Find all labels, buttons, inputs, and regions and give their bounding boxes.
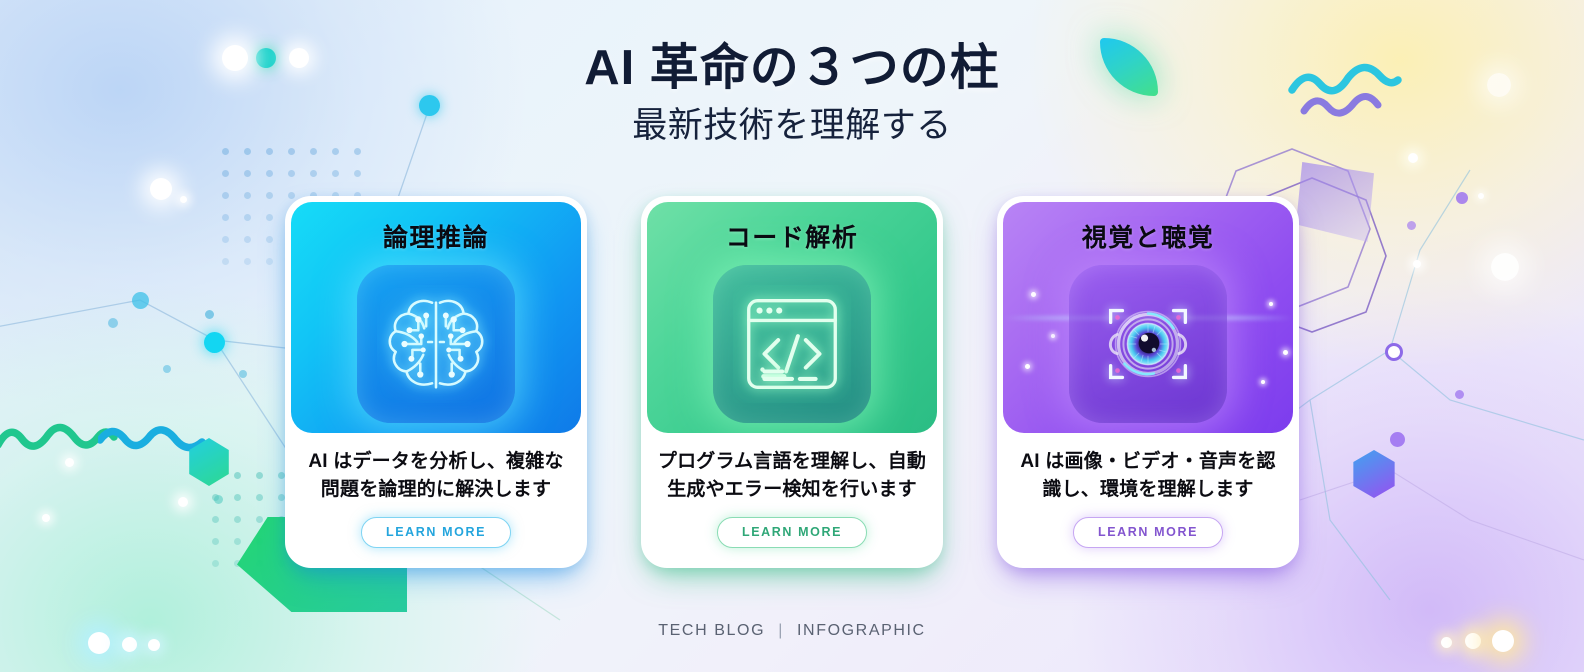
card-description: プログラム言語を理解し、自動 生成やエラー検知を行います [658, 448, 926, 503]
learn-more-button[interactable]: LEARN MORE [717, 517, 867, 548]
footer-right-label: INFOGRAPHIC [797, 622, 926, 639]
sparkle [1269, 302, 1273, 306]
learn-more-button[interactable]: LEARN MORE [361, 517, 511, 548]
code-window-icon [733, 285, 851, 403]
card-body: AI は画像・ビデオ・音声を認 識し、環境を理解します LEARN MORE [1003, 433, 1293, 562]
card-title: 論理推論 [383, 218, 489, 254]
card-description-line2: 識し、環境を理解します [1042, 479, 1253, 500]
icon-tile [713, 265, 871, 423]
cards-container: 論理推論 [0, 196, 1584, 568]
page-title: AI 革命の３つの柱 [0, 40, 1584, 97]
footer-separator: | [778, 622, 784, 639]
card-description-line2: 問題を論理的に解決します [321, 479, 551, 500]
card-vision-hearing[interactable]: 視覚と聴覚 [997, 196, 1299, 568]
icon-tile [357, 265, 515, 423]
footer: TECH BLOG | INFOGRAPHIC [0, 622, 1584, 640]
sparkle [1031, 292, 1036, 297]
card-description-line2: 生成やエラー検知を行います [667, 479, 917, 500]
header: AI 革命の３つの柱 最新技術を理解する [0, 40, 1584, 148]
card-description-line1: AI はデータを分析し、複雑な [308, 451, 563, 472]
card-body: プログラム言語を理解し、自動 生成やエラー検知を行います LEARN MORE [647, 433, 937, 562]
sparkle [1025, 364, 1030, 369]
card-title: 視覚と聴覚 [1082, 218, 1215, 254]
card-header: 論理推論 [291, 202, 581, 433]
card-body: AI はデータを分析し、複雑な 問題を論理的に解決します LEARN MORE [291, 433, 581, 562]
footer-left-label: TECH BLOG [658, 622, 765, 639]
card-header: 視覚と聴覚 [1003, 202, 1293, 433]
sparkle [1261, 380, 1265, 384]
card-description-line1: AI は画像・ビデオ・音声を認 [1020, 451, 1275, 472]
card-description: AI はデータを分析し、複雑な 問題を論理的に解決します [308, 448, 563, 503]
sparkle [1283, 350, 1288, 355]
icon-tile [1069, 265, 1227, 423]
sparkle [1051, 334, 1055, 338]
card-logical-reasoning[interactable]: 論理推論 [285, 196, 587, 568]
card-code-analysis[interactable]: コード解析 [641, 196, 943, 568]
card-header: コード解析 [647, 202, 937, 433]
card-title: コード解析 [726, 218, 859, 254]
card-description: AI は画像・ビデオ・音声を認 識し、環境を理解します [1020, 448, 1275, 503]
learn-more-button[interactable]: LEARN MORE [1073, 517, 1223, 548]
brain-circuit-icon [377, 285, 495, 403]
page-subtitle: 最新技術を理解する [0, 103, 1584, 149]
eye-lens-scan-icon [1089, 285, 1207, 403]
card-description-line1: プログラム言語を理解し、自動 [658, 451, 926, 472]
